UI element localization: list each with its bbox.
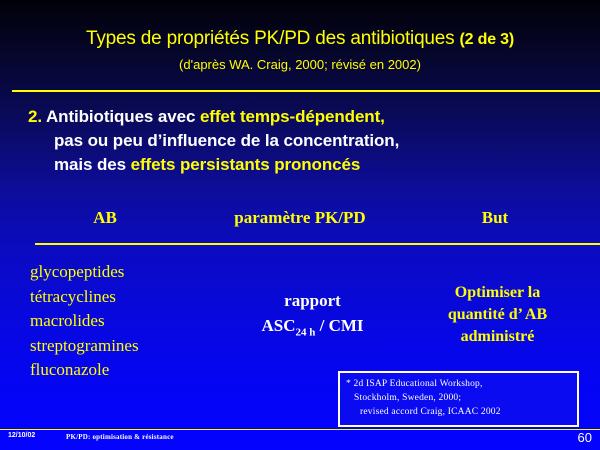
list-item: macrolides [30,309,230,334]
list-item: tétracyclines [30,285,230,310]
statement-line1-highlight: effet temps-dépendent, [200,107,385,126]
footer-presentation-title: PK/PD: optimisation & résistance [66,433,174,441]
goal-value: Optimiser la quantité d’ AB administré [400,282,595,348]
parameter-ratio-suffix: / CMI [315,316,363,335]
list-item: glycopeptides [30,260,230,285]
divider-below-title [12,90,600,92]
page-title-part-indicator: (2 de 3) [460,31,514,48]
statement-line3-plain: mais des [54,155,131,174]
slide-canvas: Types de propriétés PK/PD des antibiotiq… [0,0,600,450]
title-block: Types de propriétés PK/PD des antibiotiq… [0,28,600,72]
statement-block: 2. Antibiotiques avec effet temps-dépend… [28,105,588,177]
list-item: streptogramines [30,334,230,359]
statement-line3-highlight: effets persistants prononcés [131,155,361,174]
page-title-text: Types de propriétés PK/PD des antibiotiq… [86,28,460,49]
footnote-box: * 2d ISAP Educational Workshop, Stockhol… [338,371,579,427]
pkpd-parameter-value: rapport ASC24 h / CMI [225,288,400,345]
footnote-line1: * 2d ISAP Educational Workshop, [346,379,483,389]
statement-line2: pas ou peu d’influence de la concentrati… [28,129,588,153]
footer-page-number: 60 [578,430,592,445]
statement-line3: mais des effets persistants prononcés [28,153,588,177]
page-title: Types de propriétés PK/PD des antibiotiq… [0,28,600,50]
column-header-goal: But [425,208,565,228]
goal-line: Optimiser la [400,282,595,304]
divider-below-column-headers [35,243,600,245]
statement-number: 2. [28,107,42,126]
list-item: fluconazole [30,358,230,383]
parameter-asc-label: ASC [261,316,295,335]
parameter-line2: ASC24 h / CMI [225,313,400,345]
antibiotic-list: glycopeptides tétracyclines macrolides s… [30,260,230,383]
parameter-asc-subscript: 24 h [295,326,315,338]
goal-line: administré [400,326,595,348]
page-subtitle: (d'après WA. Craig, 2000; révisé en 2002… [0,57,600,72]
divider-above-footer [0,429,600,430]
parameter-line1: rapport [225,288,400,313]
column-header-parameter: paramètre PK/PD [195,208,405,228]
footnote-line3: revised accord Craig, ICAAC 2002 [346,405,572,419]
statement-line1-plain: Antibiotiques avec [42,107,200,126]
footnote-line2: Stockholm, Sweden, 2000; [346,391,572,405]
column-header-ab: AB [40,208,170,228]
goal-line: quantité d’ AB [400,304,595,326]
footer-date: 12/10/02 [8,432,35,439]
